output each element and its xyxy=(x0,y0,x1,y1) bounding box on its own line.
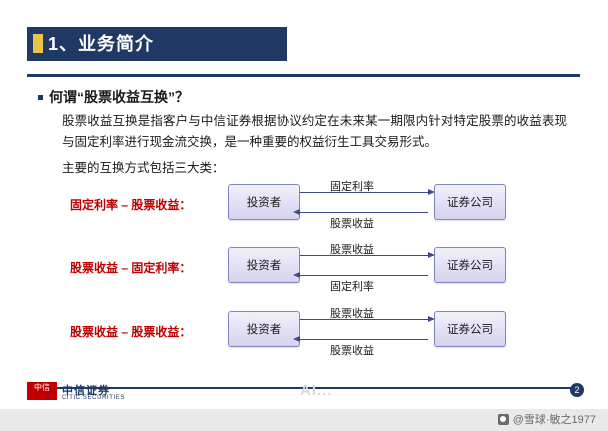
slide: 1、业务简介 何谓“股票收益互换”？ 股票收益互换是指客户与中信证券根据协议约定… xyxy=(0,0,608,431)
row-1-right-node: 证券公司 xyxy=(434,184,506,220)
row-2-bottom-arrow xyxy=(300,275,428,276)
company-name-en: CITIC SECURITIES xyxy=(62,395,125,401)
row-3-right-node: 证券公司 xyxy=(434,311,506,347)
row-label-2: 股票收益 – 固定利率： xyxy=(70,259,191,276)
page-number: 2 xyxy=(570,383,584,397)
row-1-bottom-arrow-label: 股票收益 xyxy=(330,215,374,231)
row-1-top-arrow-label: 固定利率 xyxy=(330,178,374,194)
title-divider xyxy=(27,74,580,77)
row-3-bottom-arrow xyxy=(300,339,428,340)
row-1-bottom-arrow xyxy=(300,212,428,213)
row-1-left-node: 投资者 xyxy=(228,184,300,220)
body-paragraph: 股票收益互换是指客户与中信证券根据协议约定在未来某一期限内针对特定股票的收益表现… xyxy=(62,111,567,153)
row-3-left-node: 投资者 xyxy=(228,311,300,347)
bullet-heading: 何谓“股票收益互换”？ xyxy=(49,87,189,107)
row-2-right-node: 证券公司 xyxy=(434,247,506,283)
watermark-bottom-label: @雪球·敏之1977 xyxy=(513,411,596,427)
bullet-square-icon xyxy=(38,95,43,100)
row-2-left-node: 投资者 xyxy=(228,247,300,283)
page-title: 1、业务简介 xyxy=(48,33,154,55)
watermark-center: AI... xyxy=(300,382,333,399)
row-label-1: 固定利率 – 股票收益： xyxy=(70,196,191,213)
row-3-bottom-arrow-label: 股票收益 xyxy=(330,342,374,358)
row-2-bottom-arrow-label: 固定利率 xyxy=(330,278,374,294)
row-label-3: 股票收益 – 股票收益： xyxy=(70,323,191,340)
watermark-bottom: @雪球·敏之1977 xyxy=(498,411,596,427)
citic-logo-mark: 中信 xyxy=(27,382,57,400)
snowball-icon xyxy=(498,414,509,425)
row-3-top-arrow-label: 股票收益 xyxy=(330,305,374,321)
body-paragraph-2: 主要的互换方式包括三大类： xyxy=(62,158,225,179)
row-2-top-arrow-label: 股票收益 xyxy=(330,241,374,257)
title-accent-bar xyxy=(33,34,43,53)
